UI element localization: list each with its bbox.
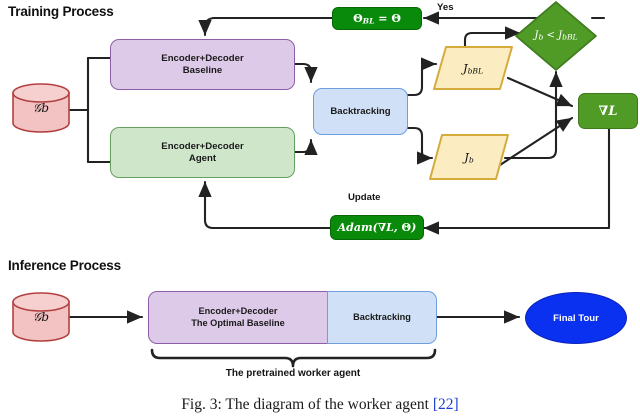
- update-edge-label: Update: [348, 192, 381, 203]
- inference-process-heading: Inference Process: [8, 258, 121, 273]
- yes-edge-label: Yes: [437, 2, 454, 13]
- training-data-source-label: 𝒢b: [12, 83, 70, 133]
- inference-backtracking-box[interactable]: Backtracking: [327, 291, 437, 344]
- training-data-source: 𝒢b: [12, 83, 70, 133]
- decision-label: Jb < JbBL: [514, 0, 598, 72]
- figure-canvas: Training Process 𝒢b Encoder+Decoder Base…: [0, 0, 640, 420]
- figure-caption: Fig. 3: The diagram of the worker agent …: [0, 396, 640, 414]
- gradient-box: ∇L: [578, 93, 638, 129]
- optimizer-label: Adam(∇L, Θ): [338, 221, 417, 234]
- training-backtracking-label: Backtracking: [330, 106, 390, 118]
- decision-diamond[interactable]: Jb < JbBL: [514, 0, 598, 72]
- encoder-decoder-baseline-box[interactable]: Encoder+Decoder Baseline: [110, 39, 295, 90]
- cost-agent-node: Jb: [428, 133, 510, 181]
- final-tour-label: Final Tour: [553, 313, 599, 324]
- inference-model-text: Encoder+Decoder The Optimal Baseline: [191, 306, 284, 329]
- pretrained-agent-brace-label: The pretrained worker agent: [0, 368, 640, 379]
- training-process-heading: Training Process: [8, 4, 114, 19]
- optimizer-box: Adam(∇L, Θ): [330, 215, 424, 240]
- inference-data-source: 𝒢b: [12, 292, 70, 342]
- training-backtracking-box[interactable]: Backtracking: [313, 88, 408, 135]
- cost-agent-label: Jb: [428, 133, 510, 181]
- inference-model-box[interactable]: Encoder+Decoder The Optimal Baseline: [148, 291, 328, 344]
- assign-baseline-params-label: ΘBL = Θ: [353, 12, 401, 25]
- cost-baseline-label: JbBL: [432, 45, 514, 91]
- figure-citation-link[interactable]: [22]: [433, 396, 459, 413]
- final-tour-node: Final Tour: [525, 292, 627, 344]
- baseline-box-text: Encoder+Decoder Baseline: [161, 53, 243, 76]
- encoder-decoder-agent-box[interactable]: Encoder+Decoder Agent: [110, 127, 295, 178]
- gradient-label: ∇L: [599, 104, 618, 119]
- agent-box-text: Encoder+Decoder Agent: [161, 141, 243, 164]
- assign-baseline-params-box: ΘBL = Θ: [332, 7, 422, 30]
- inference-data-source-label: 𝒢b: [12, 292, 70, 342]
- figure-caption-text: Fig. 3: The diagram of the worker agent: [181, 396, 433, 413]
- cost-baseline-node: JbBL: [432, 45, 514, 91]
- inference-backtracking-label: Backtracking: [353, 312, 411, 324]
